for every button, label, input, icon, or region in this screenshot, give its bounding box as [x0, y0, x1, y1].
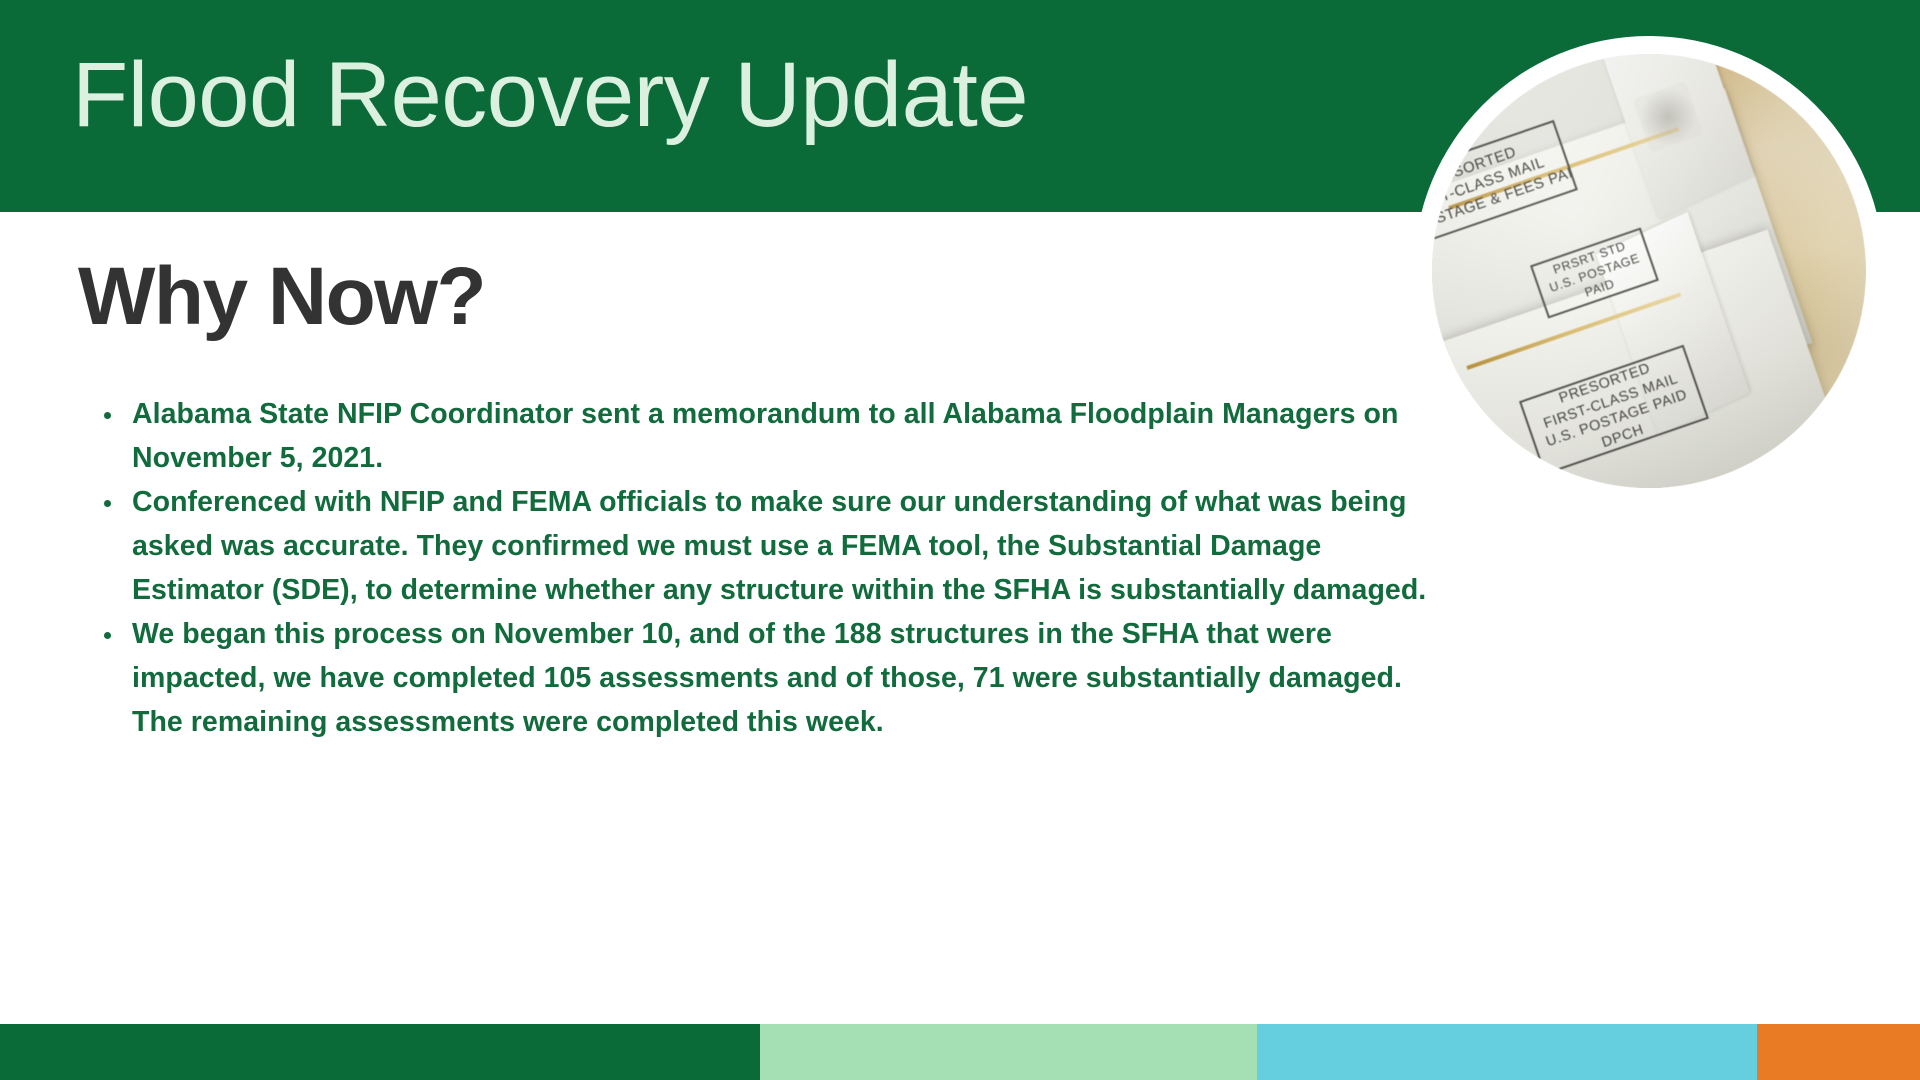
- list-item: Conferenced with NFIP and FEMA officials…: [92, 480, 1442, 612]
- list-item: Alabama State NFIP Coordinator sent a me…: [92, 392, 1442, 480]
- list-item: We began this process on November 10, an…: [92, 612, 1442, 744]
- slide-title: Flood Recovery Update: [72, 46, 1028, 145]
- footer-segment-mint-green: [760, 1024, 1257, 1080]
- footer-segment-sky-blue: [1257, 1024, 1757, 1080]
- footer-color-bar: [0, 1024, 1920, 1080]
- footer-segment-dark-green: [0, 1024, 760, 1080]
- section-heading: Why Now?: [78, 254, 485, 340]
- mail-envelopes-photo: PRESORTED FIRST-CLASS MAIL U.S. POSTAGE …: [1432, 54, 1866, 488]
- circular-photo-frame: PRESORTED FIRST-CLASS MAIL U.S. POSTAGE …: [1414, 36, 1884, 506]
- footer-segment-orange: [1757, 1024, 1920, 1080]
- presentation-slide: Flood Recovery Update Why Now? Alabama S…: [0, 0, 1920, 1080]
- bullet-list: Alabama State NFIP Coordinator sent a me…: [92, 392, 1442, 744]
